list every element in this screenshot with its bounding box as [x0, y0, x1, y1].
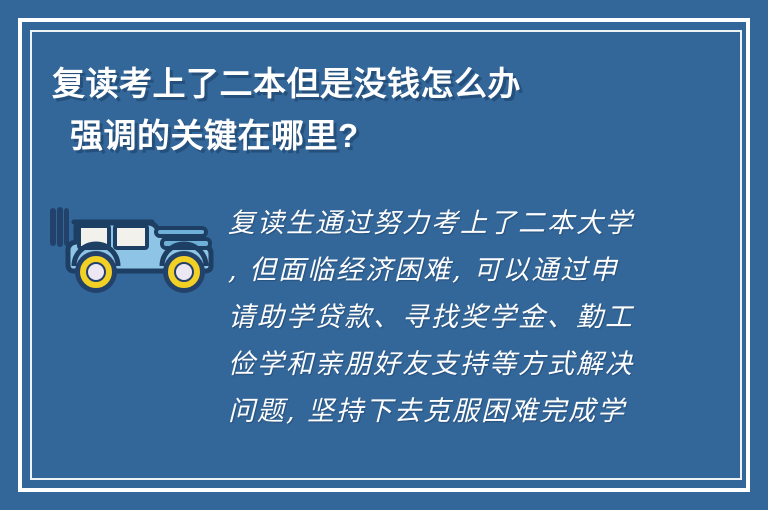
body-line: 复读生通过努力考上了二本大学 — [228, 200, 658, 247]
page-title: 复读考上了二本但是没钱怎么办 强调的关键在哪里? — [52, 58, 712, 162]
body-line: 请助学贷款、寻找奖学金、勤工 — [228, 294, 658, 341]
jeep-wheel-front — [75, 251, 117, 293]
body-line: 俭学和亲朋好友支持等方式解决 — [228, 341, 658, 388]
jeep-wheel-rear — [163, 251, 205, 293]
body-line: , 但面临经济困难, 可以通过申 — [228, 247, 658, 294]
poster-canvas: 复读考上了二本但是没钱怎么办 强调的关键在哪里? — [0, 0, 768, 510]
jeep-illustration — [44, 192, 224, 304]
jeep-spare-tire — [50, 207, 69, 247]
title-line-1: 复读考上了二本但是没钱怎么办 — [52, 58, 712, 110]
body-line: 问题, 坚持下去克服困难完成学 — [228, 388, 658, 435]
title-line-2: 强调的关键在哪里? — [70, 110, 712, 162]
body-paragraph: 复读生通过努力考上了二本大学 , 但面临经济困难, 可以通过申 请助学贷款、寻找… — [228, 200, 658, 435]
